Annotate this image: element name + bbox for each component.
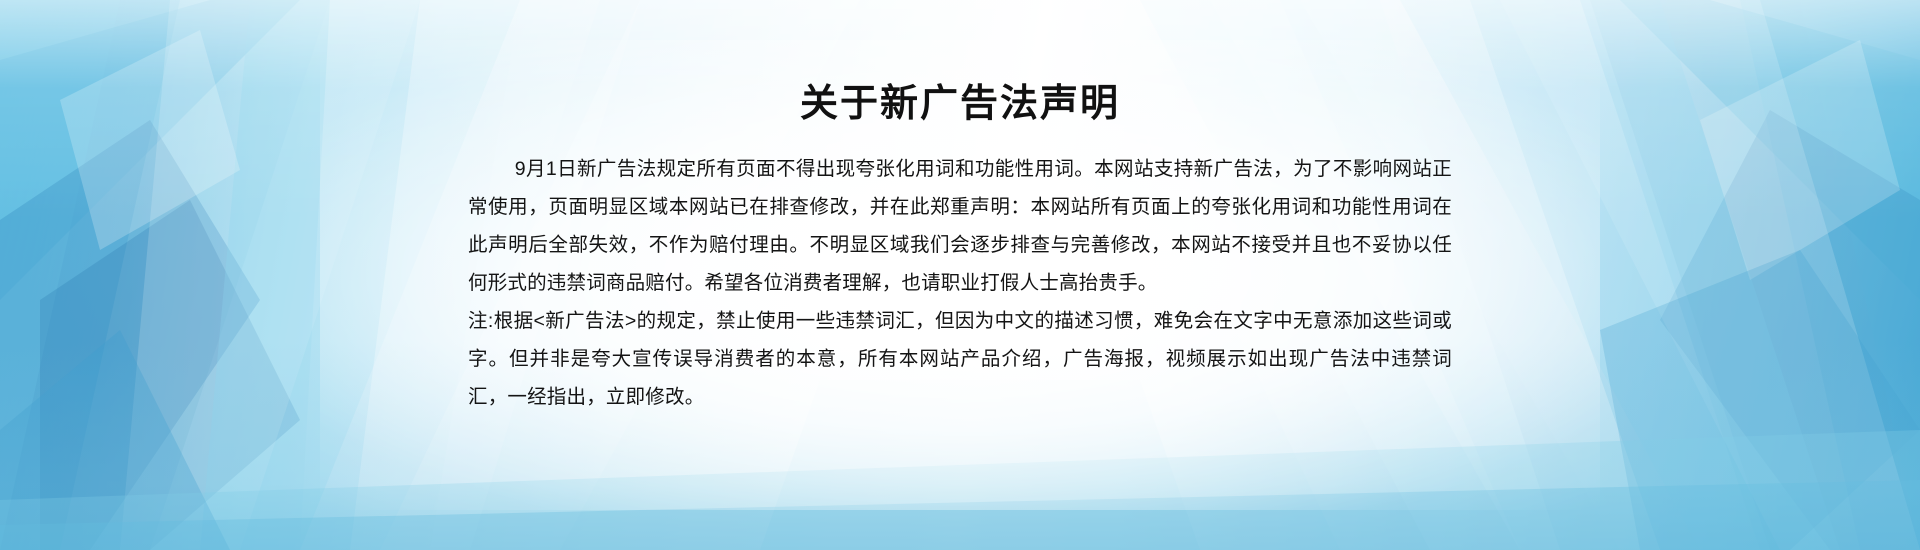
statement-paragraph-body: 9月1日新广告法规定所有页面不得出现夸张化用词和功能性用词。本网站支持新广告法，… (468, 150, 1452, 302)
statement-body-wrapper: 9月1日新广告法规定所有页面不得出现夸张化用词和功能性用词。本网站支持新广告法，… (468, 128, 1452, 416)
statement-paragraph-note: 注:根据<新广告法>的规定，禁止使用一些违禁词汇，但因为中文的描述习惯，难免会在… (468, 302, 1452, 416)
advertising-law-statement-banner: 关于新广告法声明 9月1日新广告法规定所有页面不得出现夸张化用词和功能性用词。本… (0, 0, 1920, 550)
statement-content: 关于新广告法声明 9月1日新广告法规定所有页面不得出现夸张化用词和功能性用词。本… (460, 0, 1460, 550)
page-title: 关于新广告法声明 (460, 0, 1460, 128)
